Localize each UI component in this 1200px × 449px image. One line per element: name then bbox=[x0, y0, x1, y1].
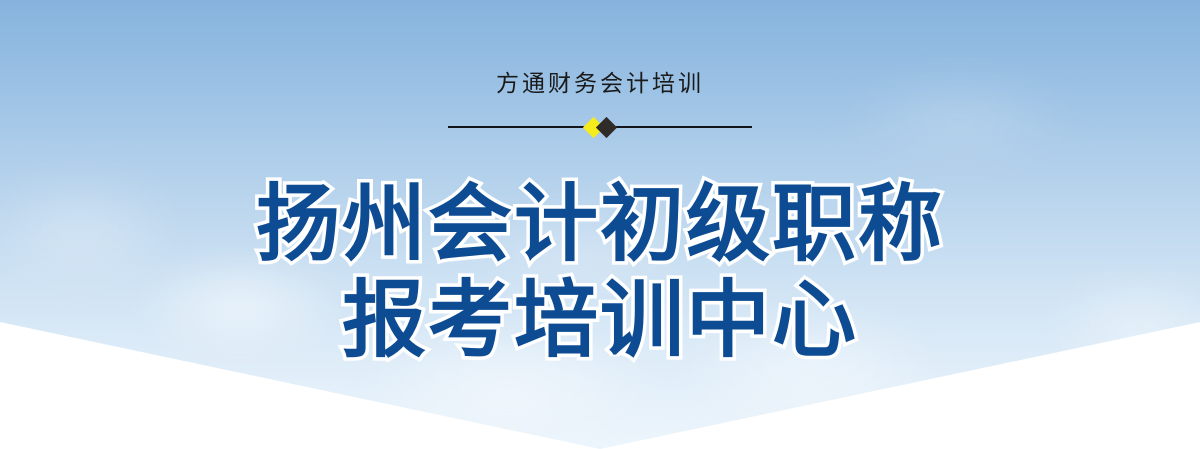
headline: 扬州会计初级职称 报考培训中心 bbox=[0, 178, 1200, 366]
brand-subtitle: 方通财务会计培训 bbox=[0, 72, 1200, 95]
promo-banner: 方通财务会计培训 扬州会计初级职称 报考培训中心 bbox=[0, 0, 1200, 449]
brand-header: 方通财务会计培训 bbox=[0, 72, 1200, 141]
diamond-dark-icon bbox=[596, 117, 617, 138]
divider-ornament bbox=[448, 113, 752, 141]
headline-line-2: 报考培训中心 bbox=[0, 274, 1200, 366]
headline-line-1: 扬州会计初级职称 bbox=[0, 178, 1200, 270]
